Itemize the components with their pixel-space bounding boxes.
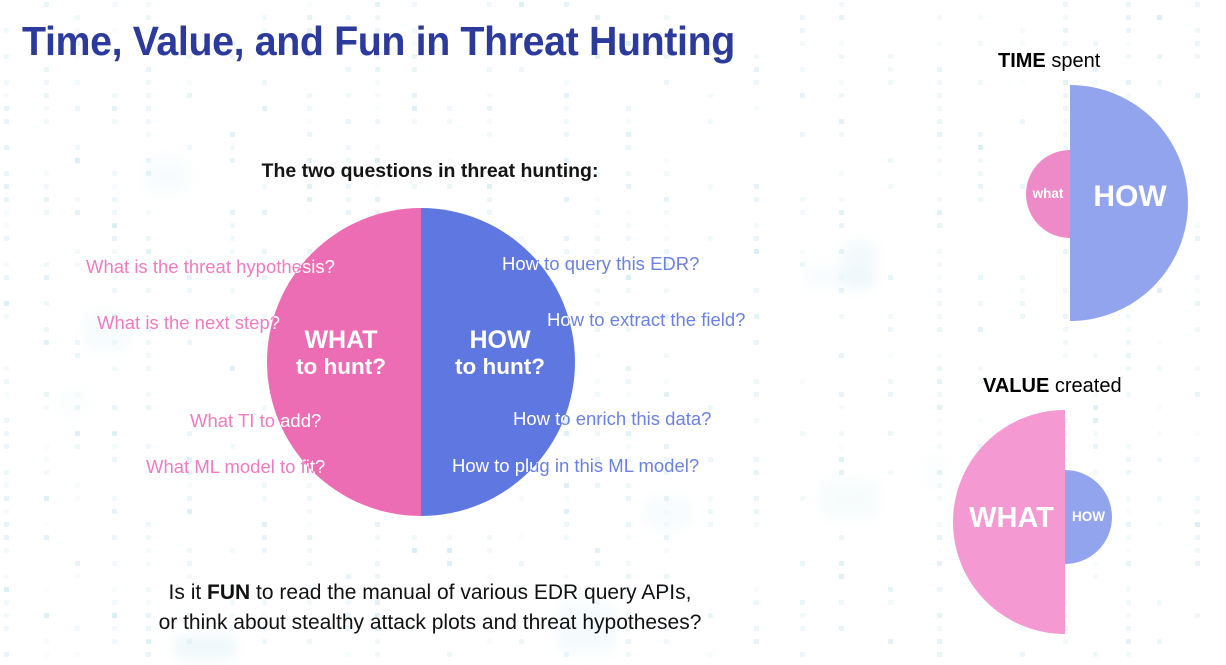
time-chart-heading-bold: TIME [998, 50, 1046, 72]
circle-label-what: WHAT to hunt? [267, 326, 421, 380]
question-label-how-3: How to enrich this data? [513, 410, 711, 429]
time-chart-label-what: what [1026, 186, 1070, 201]
question-label-how-2: How to extract the field? [547, 311, 745, 330]
question-label-how-1: How to query this EDR? [502, 255, 699, 274]
bottom-paragraph-line1: Is it FUN to read the manual of various … [0, 578, 860, 608]
bottom-paragraph-line2: or think about stealthy attack plots and… [0, 608, 860, 638]
circle-label-what-line2: to hunt? [267, 354, 415, 379]
value-chart-heading-bold: VALUE [983, 375, 1049, 397]
time-chart-heading: TIME spent [998, 50, 1100, 73]
value-chart-label-how: HOW [1065, 509, 1112, 524]
subtitle-heading: The two questions in threat hunting: [0, 160, 860, 183]
page-title: Time, Value, and Fun in Threat Hunting [22, 18, 735, 65]
value-chart-heading-rest: created [1049, 375, 1121, 397]
value-chart-label-what: WHAT [958, 502, 1065, 535]
bottom-line1-emphasis: FUN [207, 581, 250, 604]
time-chart-label-how: HOW [1080, 180, 1180, 214]
circle-label-how-line2: to hunt? [425, 354, 575, 379]
time-chart-heading-rest: spent [1046, 50, 1100, 72]
bottom-paragraph: Is it FUN to read the manual of various … [0, 578, 860, 638]
bottom-line1-post: to read the manual of various EDR query … [250, 581, 691, 604]
value-chart-heading: VALUE created [983, 375, 1122, 398]
circle-label-how-line1: HOW [425, 326, 575, 354]
circle-label-how: HOW to hunt? [421, 326, 575, 380]
question-label-how-4: How to plug in this ML model? [452, 457, 699, 476]
circle-label-what-line1: WHAT [267, 326, 415, 354]
how-questions-group: How to query this EDR? How to extract th… [0, 0, 1226, 665]
bottom-line1-pre: Is it [169, 581, 208, 604]
